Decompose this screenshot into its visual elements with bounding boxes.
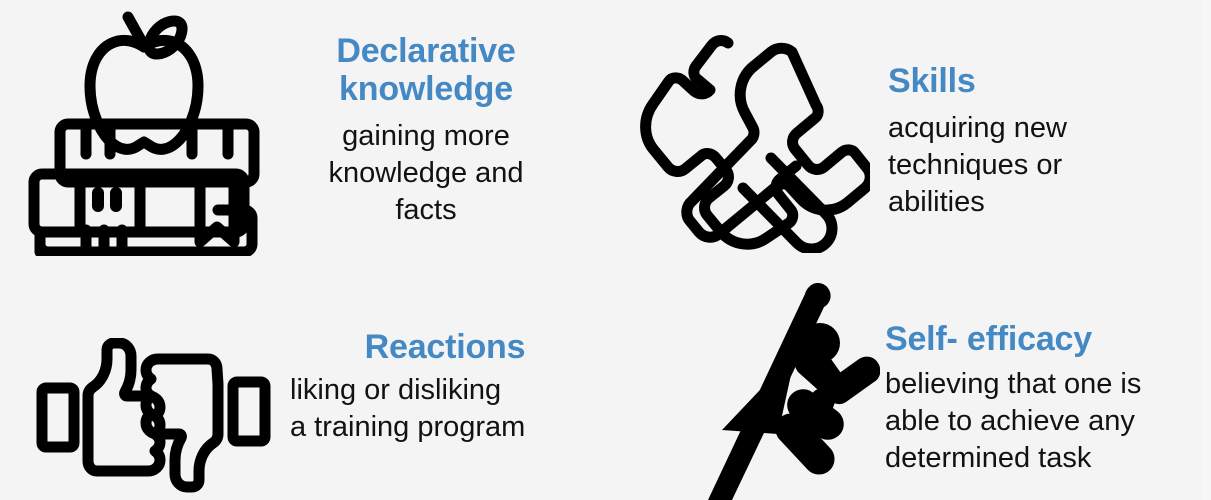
rock-climber-icon xyxy=(700,280,880,500)
thumbs-up-down-icon xyxy=(28,338,278,498)
body-self-efficacy: believing that one is able to achieve an… xyxy=(885,366,1195,477)
text-self-efficacy: Self- efficacy believing that one is abl… xyxy=(885,320,1195,477)
body-declarative-knowledge: gaining more knowledge and facts xyxy=(297,118,555,229)
card-declarative-knowledge: Declarative knowledge gaining more knowl… xyxy=(0,0,605,262)
heading-skills: Skills xyxy=(888,62,1138,100)
text-declarative-knowledge: Declarative knowledge gaining more knowl… xyxy=(297,32,555,229)
heading-reactions: Reactions xyxy=(290,328,600,366)
crossed-wrenches-icon xyxy=(640,18,870,253)
text-reactions: Reactions liking or disliking a training… xyxy=(290,328,600,446)
card-reactions: Reactions liking or disliking a training… xyxy=(0,262,605,500)
body-skills: acquiring new techniques or abilities xyxy=(888,110,1138,221)
body-reactions: liking or disliking a training program xyxy=(290,372,600,446)
apple-on-books-icon xyxy=(22,6,267,256)
heading-declarative-knowledge: Declarative knowledge xyxy=(297,32,555,108)
training-outcomes-infographic: Declarative knowledge gaining more knowl… xyxy=(0,0,1211,500)
card-skills: Skills acquiring new techniques or abili… xyxy=(605,0,1211,262)
text-skills: Skills acquiring new techniques or abili… xyxy=(888,62,1138,221)
heading-self-efficacy: Self- efficacy xyxy=(885,320,1195,358)
card-self-efficacy: Self- efficacy believing that one is abl… xyxy=(605,262,1211,500)
